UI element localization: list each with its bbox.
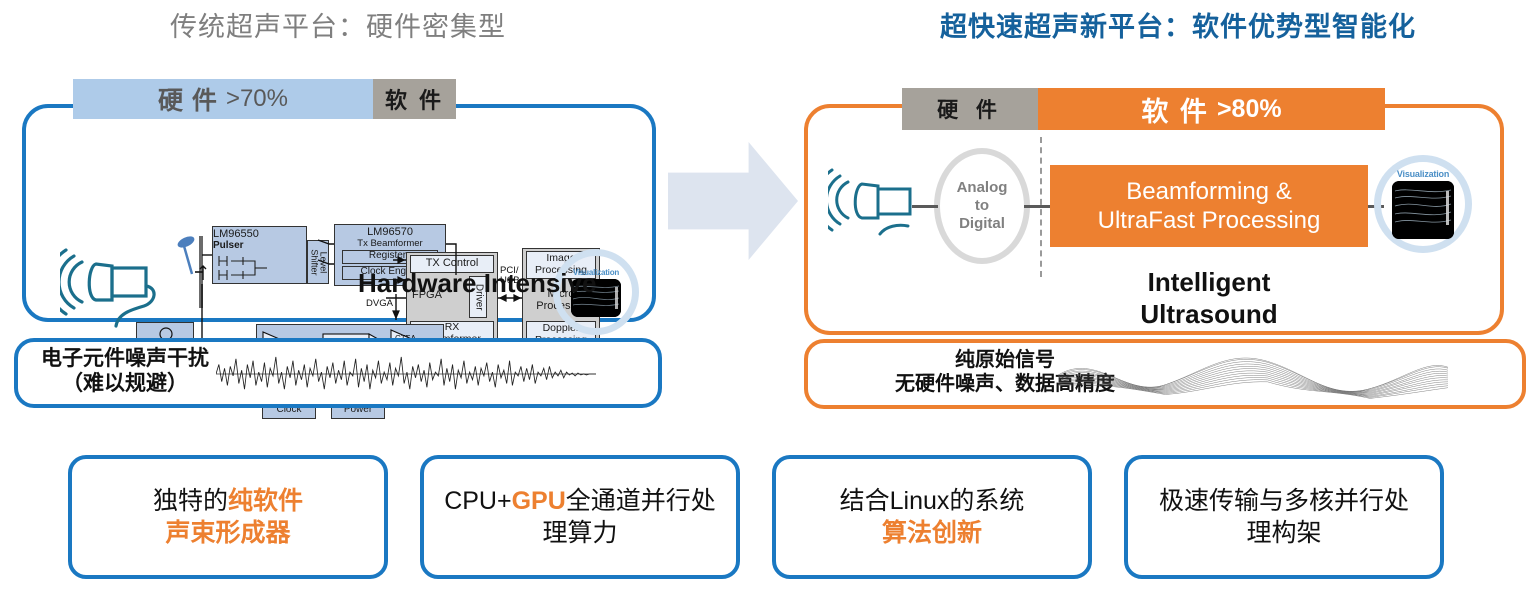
feature-card-3[interactable]: 极速传输与多核并行处 理构架 [1124,455,1444,579]
card-3-pre: 极速传输与多核并行处 [1159,487,1409,515]
feature-card-3-text: 极速传输与多核并行处 理构架 [1159,485,1409,550]
ultrasound-image-right [1392,181,1454,239]
noise-band-right: 纯原始信号 无硬件噪声、数据高精度 [804,339,1526,409]
clean-signal-waveform [1058,345,1448,407]
feature-card-0-text: 独特的纯软件 声束形成器 [153,485,303,550]
card-2-pre: 结合Linux的系统 [840,487,1025,515]
hardware-intensive-caption: Hardware Intensive [358,268,596,299]
pulser-circuit-icon [213,252,271,283]
ratio-right-software-label: 软 件 [1141,90,1209,129]
ratio-left-hardware: 硬 件 >70% [73,79,373,119]
processing-line1: Beamforming & [1126,177,1291,206]
schematic-block-level-shifter: LevelShifter [307,240,329,284]
feature-card-1[interactable]: CPU+GPU全通道并行处 理算力 [420,455,740,579]
card-1-post: 全通道并行处 [566,487,716,515]
card-0-hl: 纯软件 [228,487,303,515]
feature-card-2-text: 结合Linux的系统 算法创新 [840,485,1025,550]
feature-card-1-text: CPU+GPU全通道并行处 理算力 [444,485,716,550]
noise-left-line1: 电子元件噪声干扰 [30,347,220,372]
feature-card-0[interactable]: 独特的纯软件 声束形成器 [68,455,388,579]
visualization-bubble-right: Visualization [1374,155,1472,253]
processing-block: Beamforming & UltraFast Processing [1050,165,1368,247]
card-3-line2: 理构架 [1246,519,1321,547]
pulser-title: LM96550 [213,229,259,241]
noise-left-line2: （难以规避） [30,372,220,397]
noise-band-left: 电子元件噪声干扰 （难以规避） [14,338,662,408]
intel-line1: Intelligent [1053,267,1365,299]
connector-probe-ad [912,205,938,208]
card-0-line2-hl: 声束形成器 [165,519,290,547]
slide-root: 传统超声平台：硬件密集型 超快速超声新平台：软件优势型智能化 [0,0,1535,589]
ultrasound-scan-graphic-right [1392,181,1454,239]
title-right: 超快速超声新平台：软件优势型智能化 [836,2,1520,47]
card-1-pre: CPU+ [444,487,511,515]
ratio-bar-left: 硬 件 >70% 软 件 [73,79,456,119]
intel-line2: Ultrasound [1053,299,1365,331]
intelligent-ultrasound-caption: Intelligent Ultrasound [1053,267,1365,330]
analog-digital-divider [1040,137,1042,277]
ratio-left-software: 软 件 [373,79,456,119]
ratio-left-hardware-label: 硬 件 [158,81,218,117]
level-shifter-label: LevelShifter [309,249,328,275]
txbf-sub: Tx Beamformer [357,239,422,249]
ratio-bar-right: 硬 件 软 件 >80% [902,88,1385,130]
card-1-hl: GPU [512,487,566,515]
analog-to-digital-node: Analog to Digital [934,148,1030,264]
ratio-right-software-pct: >80% [1217,95,1282,124]
txbf-title: LM96570 [367,227,413,239]
schematic-label-dvga-bus: DVGA [366,298,393,309]
card-0-pre: 独特的 [153,487,228,515]
ratio-right-hardware: 硬 件 [902,88,1038,130]
electronic-noise-waveform [216,346,596,402]
card-1-line2: 理算力 [542,519,617,547]
feature-card-2[interactable]: 结合Linux的系统 算法创新 [772,455,1092,579]
noise-left-text: 电子元件噪声干扰 （难以规避） [30,347,220,397]
processing-line2: UltraFast Processing [1098,206,1321,235]
ad-line2: to [975,197,989,215]
card-2-line2-hl: 算法创新 [882,519,982,547]
schematic-block-pulser: LM96550 Pulser [212,226,307,284]
ratio-left-hardware-pct: >70% [226,85,288,113]
transducer-array-icon [172,234,212,324]
ad-line1: Analog [957,179,1008,197]
transition-arrow-icon [668,142,798,260]
ratio-right-software: 软 件 >80% [1038,88,1385,130]
title-left: 传统超声平台：硬件密集型 [18,2,658,47]
visualization-label-right: Visualization [1397,169,1449,179]
legacy-platform-panel: LM96550 Pulser LevelShifter [22,104,656,322]
ad-line3: Digital [959,215,1005,233]
pulser-sub: Pulser [213,241,244,252]
